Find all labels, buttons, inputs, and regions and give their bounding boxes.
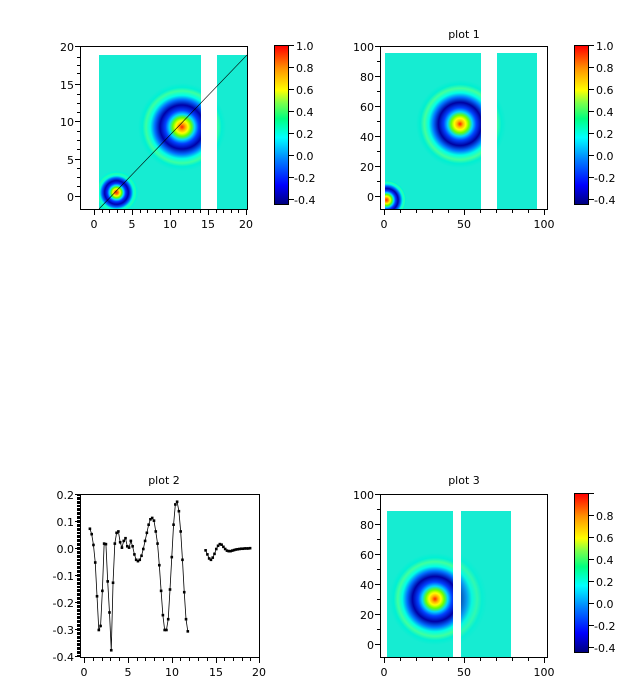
plot3-ytick-mark [375,584,380,585]
data-point-marker [206,553,209,556]
plot2-xtick-minor [242,658,243,661]
data-point-marker [101,590,104,593]
data-point-marker [128,546,131,549]
plot0-heatmap-image [81,47,247,209]
plot3-colorbar [574,493,589,653]
data-point-marker [211,556,214,559]
plot1-cbar-label-6: 0.8 [596,62,614,75]
plot3-ytick-minor [377,569,380,570]
plot3-heatmap-image [381,495,547,657]
data-point-marker [172,523,175,526]
plot3-cbar-label-4: 0.4 [596,554,614,567]
plot1-ytick-3: 60 [330,101,374,114]
plot2-ytick-2: -0.2 [30,597,74,610]
data-point-marker [153,519,156,522]
plot1-xtick-minor [448,210,449,213]
plot3-ytick-minor [377,629,380,630]
plot2-title: plot 2 [80,474,248,487]
plot3-cbar-tick [589,581,594,582]
plot0-cbar-label-6: 0.8 [296,62,314,75]
plot0-ytick-minor [77,112,80,113]
data-point-marker [170,556,173,559]
plot0-xlabel-1: 5 [116,218,148,231]
plot0-xtick-minor [200,210,201,213]
data-point-marker [187,630,190,633]
plot3-xlabel-0: 0 [368,666,400,679]
plot1-xtick-minor [480,210,481,213]
plot3-xtick-minor [448,658,449,661]
plot0-xtick-minor [155,210,156,213]
plot0-cbar-label-0: -0.4 [294,194,315,207]
plot1-ytick-1: 20 [330,161,374,174]
data-point-marker [140,554,143,557]
plot1-heatmap-image [381,47,547,209]
plot3-cbar-label-6: 0.8 [596,510,614,523]
plot3-ytick-2: 40 [330,579,374,592]
subplot-top-left: 20 15 10 5 0 [0,0,320,240]
plot1-cbar-label-4: 0.4 [596,106,614,119]
plot0-ytick-minor [77,57,80,58]
plot0-ytick-mark [75,121,80,122]
plot2-xtick-minor [180,658,181,661]
data-point-marker [179,530,182,533]
data-point-marker [90,533,93,536]
plot2-xtick-minor [93,658,94,661]
data-point-marker [146,532,149,535]
plot0-ytick-minor [77,177,80,178]
plot0-cbar-label-7: 1.0 [296,40,314,53]
plot3-ytick-mark [375,554,380,555]
plot0-xtick-minor [178,210,179,213]
plot1-ytick-0: 0 [330,191,374,204]
data-point-marker [144,540,147,543]
plot3-ytick-5: 100 [330,489,374,502]
plot1-cbar-label-3: 0.2 [596,128,614,141]
plot1-ytick-mark [375,46,380,47]
plot1-ytick-4: 80 [330,71,374,84]
plot3-ytick-4: 80 [330,519,374,532]
plot0-ytick-mark [75,84,80,85]
plot3-cbar-label-1: -0.2 [594,620,615,633]
plot0-cbar-tick [289,89,294,90]
data-point-marker [176,500,179,503]
plot0-xtick-mark [208,210,209,215]
plot3-xlabel-2: 100 [528,666,560,679]
data-point-marker [105,543,108,546]
plot1-xtick-minor [400,210,401,213]
plot3-xtick-mark [384,658,385,663]
plot2-xtick-mark [259,658,260,663]
data-point-marker [92,544,95,547]
plot2-ytick-0: -0.4 [30,651,74,664]
plot1-xtick-mark [464,210,465,215]
plot0-xlabel-0: 0 [78,218,110,231]
plot0-cbar-tick [289,45,294,46]
data-point-marker [112,581,115,584]
plot1-title: plot 1 [380,28,548,41]
plot1-cbar-tick [589,45,594,46]
data-point-marker [121,546,124,549]
plot3-ytick-mark [375,614,380,615]
data-point-marker [167,618,170,621]
data-point-marker [185,618,188,621]
data-point-marker [94,561,97,564]
plot3-axes-frame [380,494,548,658]
plot1-cbar-label-0: -0.4 [594,194,615,207]
plot3-xlabel-1: 50 [448,666,480,679]
plot0-ytick-minor [77,186,80,187]
plot1-cbar-tick [589,133,594,134]
plot2-ytick-6: 0.2 [30,489,74,502]
plot3-cbar-tick [589,515,594,516]
plot0-colorbar-gradient [275,46,288,204]
plot0-cbar-tick [289,133,294,134]
data-point-marker [96,595,99,598]
plot0-ytick-mark [75,196,80,197]
data-point-marker [133,553,136,556]
plot2-xtick-mark [128,658,129,663]
plot3-xtick-minor [480,658,481,661]
plot0-ytick-minor [77,149,80,150]
plot3-xtick-minor [400,658,401,661]
plot1-cbar-label-7: 1.0 [596,40,614,53]
plot0-xtick-minor [193,210,194,213]
plot1-cbar-tick [589,89,594,90]
data-point-marker [165,629,168,632]
plot0-ytick-mark [75,46,80,47]
plot1-axes-frame [380,46,548,210]
plot2-xtick-minor [102,658,103,661]
plot1-ytick-mark [375,106,380,107]
plot2-ytick-5: 0.1 [30,516,74,529]
plot3-xtick-minor [512,658,513,661]
plot0-ytick-2: 10 [38,116,74,129]
plot3-xtick-minor [432,658,433,661]
subplot-top-right: plot 1 [320,0,640,240]
plot1-colorbar-gradient [575,46,588,204]
plot2-xlabel-4: 20 [243,666,275,679]
plot1-xtick-minor [528,210,529,213]
plot0-xtick-minor [185,210,186,213]
plot0-cbar-label-5: 0.6 [296,84,314,97]
plot0-xtick-minor [238,210,239,213]
plot1-xtick-mark [544,210,545,215]
plot2-xtick-mark [172,658,173,663]
plot0-xtick-minor [147,210,148,213]
plot1-xlabel-2: 100 [528,218,560,231]
subplot-bottom-right: plot 3 [320,240,640,480]
plot1-xlabel-1: 50 [448,218,480,231]
data-point-marker [89,527,92,530]
plot0-cbar-label-4: 0.4 [296,106,314,119]
plot1-cbar-tick [589,111,594,112]
data-point-marker [124,537,127,540]
plot3-cbar-tick [589,559,594,560]
data-point-marker [158,564,161,567]
plot0-xtick-minor [162,210,163,213]
data-point-marker [160,590,163,593]
plot0-colorbar [274,45,289,205]
plot3-cbar-tick [589,537,594,538]
plot0-xtick-mark [94,210,95,215]
plot2-xtick-minor [233,658,234,661]
data-point-marker [130,540,133,543]
plot3-cbar-label-0: -0.4 [594,642,615,655]
data-point-marker [154,530,157,533]
plot1-cbar-label-2: 0.0 [596,150,614,163]
data-point-marker [142,548,145,551]
figure-canvas: 20 15 10 5 0 [0,0,640,480]
plot3-ytick-3: 60 [330,549,374,562]
data-point-marker [151,517,154,520]
plot0-xtick-minor [231,210,232,213]
data-point-marker [156,542,159,545]
plot0-ytick-minor [77,140,80,141]
plot3-ytick-minor [377,599,380,600]
data-point-marker [106,580,109,583]
data-point-marker [119,541,122,544]
data-point-marker [204,549,207,552]
plot1-ytick-5: 100 [330,41,374,54]
plot1-xtick-minor [416,210,417,213]
plot0-xtick-mark [132,210,133,215]
plot0-cbar-tick [289,67,294,68]
data-point-marker [178,510,181,513]
plot3-xtick-mark [544,658,545,663]
plot0-cbar-label-2: 0.0 [296,150,314,163]
plot2-line-series [81,495,259,657]
plot0-xtick-minor [216,210,217,213]
plot1-ytick-mark [375,76,380,77]
subplot-bottom-left: plot 2 0.2 0.1 0.0 -0.1 -0.2 -0.3 -0.4 0… [0,240,320,480]
plot0-ytick-minor [77,94,80,95]
plot1-ytick-minor [377,121,380,122]
plot1-ytick-mark [375,166,380,167]
plot3-xtick-mark [464,658,465,663]
plot0-ytick-1: 15 [38,79,74,92]
data-point-marker [98,629,101,632]
plot3-xtick-minor [528,658,529,661]
plot1-cbar-tick [589,155,594,156]
plot3-ytick-minor [377,509,380,510]
plot1-cbar-label-1: -0.2 [594,172,615,185]
plot3-ytick-mark [375,644,380,645]
data-point-marker [108,611,111,614]
plot0-xtick-minor [102,210,103,213]
plot2-ytick-3: -0.1 [30,570,74,583]
plot2-xtick-minor [207,658,208,661]
plot1-xlabel-0: 0 [368,218,400,231]
data-point-marker [183,591,186,594]
plot3-colorbar-gradient [575,494,588,652]
plot1-xtick-mark [384,210,385,215]
data-point-marker [169,588,172,591]
plot1-ytick-minor [377,151,380,152]
plot1-xtick-minor [512,210,513,213]
plot0-cbar-label-3: 0.2 [296,128,314,141]
plot0-xlabel-2: 10 [154,218,186,231]
plot3-ytick-0: 0 [330,639,374,652]
plot3-ytick-1: 20 [330,609,374,622]
data-point-marker [131,545,134,548]
plot2-xlabel-0: 0 [68,666,100,679]
plot0-cbar-label-1: -0.2 [294,172,315,185]
plot1-xtick-minor [432,210,433,213]
plot3-cbar-label-2: 0.0 [596,598,614,611]
plot2-xtick-minor [119,658,120,661]
plot0-xtick-minor [117,210,118,213]
plot0-ytick-4: 0 [38,191,74,204]
plot2-xlabel-2: 10 [156,666,188,679]
plot3-cbar-tick [589,603,594,604]
plot0-ytick-0: 20 [38,41,74,54]
data-point-marker [122,540,125,543]
plot3-ytick-mark [375,524,380,525]
plot1-cbar-label-5: 0.6 [596,84,614,97]
plot2-xtick-mark [216,658,217,663]
plot1-ytick-minor [377,91,380,92]
data-point-marker [181,559,184,562]
data-point-marker [215,548,218,551]
plot3-cbar-tick [589,493,594,494]
plot2-xtick-minor [250,658,251,661]
plot0-xtick-mark [170,210,171,215]
plot1-ytick-mark [375,136,380,137]
data-point-marker [162,614,165,617]
plot1-ytick-mark [375,196,380,197]
plot1-ytick-minor [377,61,380,62]
plot0-xlabel-3: 15 [192,218,224,231]
plot2-xlabel-3: 15 [200,666,232,679]
plot3-cbar-label-5: 0.6 [596,532,614,545]
plot1-ytick-minor [377,181,380,182]
plot2-xtick-minor [110,658,111,661]
plot0-ytick-minor [77,73,80,74]
plot2-xtick-minor [137,658,138,661]
data-point-marker [174,503,177,506]
plot0-xtick-minor [109,210,110,213]
plot1-colorbar [574,45,589,205]
plot3-xtick-minor [496,658,497,661]
plot2-ytick-1: -0.3 [30,624,74,637]
plot1-xtick-minor [496,210,497,213]
plot0-xtick-minor [140,210,141,213]
plot2-ytick-4: 0.0 [30,543,74,556]
plot2-xtick-minor [224,658,225,661]
data-point-marker [147,523,150,526]
plot3-xtick-minor [416,658,417,661]
plot2-axes-frame [80,494,260,658]
data-point-marker [114,542,117,545]
plot2-xtick-minor [145,658,146,661]
plot0-ytick-minor [77,168,80,169]
plot1-cbar-tick [589,67,594,68]
plot0-xtick-minor [124,210,125,213]
plot3-cbar-label-3: 0.2 [596,576,614,589]
plot3-ytick-minor [377,539,380,540]
plot0-ytick-3: 5 [38,154,74,167]
plot0-cbar-tick [289,155,294,156]
plot2-xtick-minor [198,658,199,661]
plot0-cbar-tick [289,111,294,112]
plot0-ytick-minor [77,103,80,104]
plot2-ytick-minor [77,656,80,657]
plot1-ytick-2: 40 [330,131,374,144]
plot2-xtick-minor [163,658,164,661]
plot0-ytick-minor [77,65,80,66]
data-point-marker [110,649,113,652]
plot0-ytick-minor [77,131,80,132]
plot0-xlabel-4: 20 [230,218,262,231]
data-point-marker [99,625,102,628]
plot0-ytick-mark [75,159,80,160]
plot2-xtick-mark [84,658,85,663]
data-point-marker [117,530,120,533]
data-point-marker [249,547,252,550]
plot2-xlabel-1: 5 [112,666,144,679]
plot3-ytick-mark [375,494,380,495]
plot0-axes-frame [80,46,248,210]
plot2-xtick-minor [189,658,190,661]
plot0-xtick-minor [223,210,224,213]
plot3-title: plot 3 [380,474,548,487]
plot2-xtick-minor [154,658,155,661]
plot0-xtick-mark [246,210,247,215]
data-point-marker [138,559,141,562]
data-point-marker [213,553,216,556]
